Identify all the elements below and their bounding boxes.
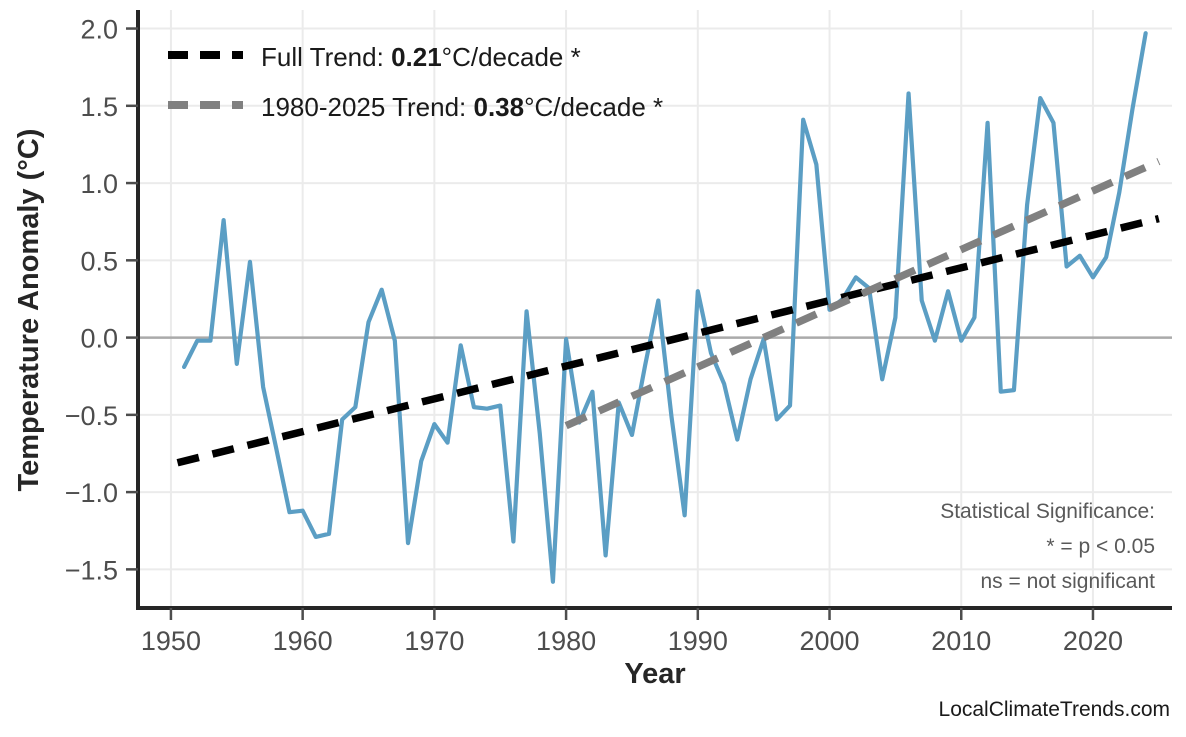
y-tick-label: −1.5 [65, 555, 118, 585]
x-tick-label: 2000 [799, 626, 859, 656]
annotation-line-2: * = p < 0.05 [1046, 535, 1155, 558]
y-tick-label: 0.5 [80, 246, 118, 276]
y-tick-label: −0.5 [65, 401, 118, 431]
x-tick-label: 1950 [141, 626, 201, 656]
x-tick-label: 1990 [668, 626, 728, 656]
x-tick-label: 1980 [536, 626, 596, 656]
y-tick-label: −1.0 [65, 478, 118, 508]
chart-canvas: 19501960197019801990200020102020 −1.5−1.… [0, 0, 1186, 737]
y-axis-title: Temperature Anomaly (°C) [13, 129, 45, 492]
legend-suffix-full-trend: °C/decade * [442, 42, 581, 72]
y-tick-label: 0.0 [80, 324, 118, 354]
legend-prefix-recent-trend: 1980-2025 Trend: [261, 92, 474, 122]
y-tick-label: 1.5 [80, 92, 118, 122]
y-tick-label: 1.0 [80, 169, 118, 199]
legend-label-recent-trend: 1980-2025 Trend: 0.38°C/decade * [261, 92, 663, 122]
legend-suffix-recent-trend: °C/decade * [524, 92, 663, 122]
y-tick-label: 2.0 [80, 15, 118, 45]
x-tick-label: 1970 [404, 626, 464, 656]
x-axis-title: Year [624, 658, 685, 690]
legend-value-full-trend: 0.21 [391, 42, 442, 72]
climate-trend-chart: 19501960197019801990200020102020 −1.5−1.… [0, 0, 1186, 737]
annotation-line-3: ns = not significant [980, 570, 1155, 593]
x-tick-label: 1960 [273, 626, 333, 656]
legend-prefix-full-trend: Full Trend: [261, 42, 391, 72]
annotation-line-1: Statistical Significance: [940, 500, 1155, 523]
x-tick-label: 2010 [931, 626, 991, 656]
legend-value-recent-trend: 0.38 [474, 92, 525, 122]
footer-attribution: LocalClimateTrends.com [939, 698, 1170, 721]
legend-label-full-trend: Full Trend: 0.21°C/decade * [261, 42, 581, 72]
x-tick-label: 2020 [1063, 626, 1123, 656]
